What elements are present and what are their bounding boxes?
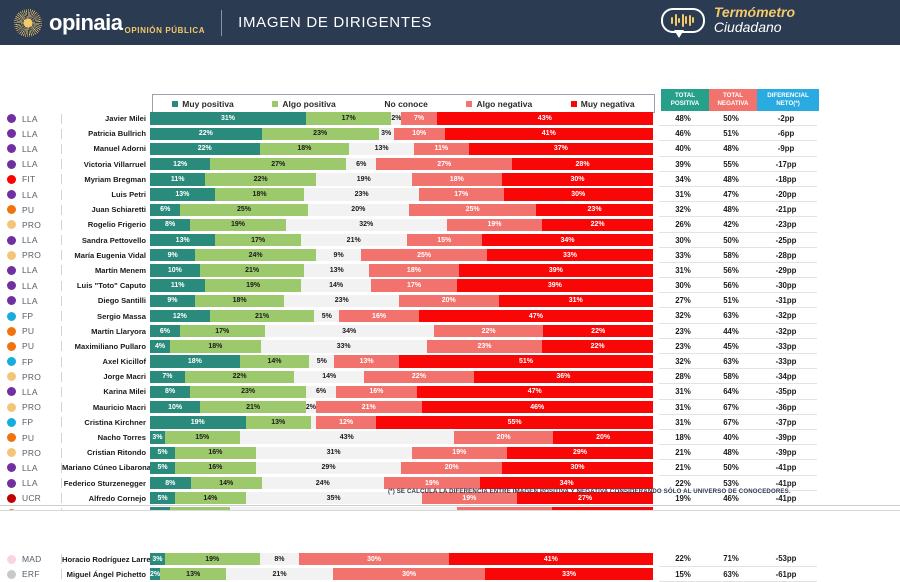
party-label: PU <box>22 326 62 336</box>
value-total-negativa: 47% <box>707 187 755 202</box>
stacked-bar: 5%16%31%19%29% <box>150 447 653 459</box>
value-diferencial-neto: -33pp <box>755 354 817 369</box>
bar-segment-algo-negativa: 16% <box>339 310 419 322</box>
bar-segment-no-conoce: 13% <box>304 264 369 276</box>
bar-segment-algo-negativa: 12% <box>316 416 376 428</box>
bar-segment-no-conoce: 32% <box>286 219 447 231</box>
bar-segment-algo-positiva: 15% <box>165 431 240 443</box>
bar-segment-algo-positiva: 17% <box>180 325 265 337</box>
party-color-dot-cell <box>0 312 22 321</box>
bar-segment-muy-positiva: 9% <box>150 249 195 261</box>
party-color-dot-icon <box>7 114 16 123</box>
value-diferencial-neto: -39pp <box>755 445 817 460</box>
value-diferencial-neto: -32pp <box>755 324 817 339</box>
value-total-positiva: 15% <box>659 567 707 582</box>
bar-segment-algo-negativa: 22% <box>434 325 544 337</box>
value-diferencial-neto: -31pp <box>755 293 817 308</box>
dirigente-name: Sandra Pettovello <box>62 236 150 245</box>
bar-segment-algo-positiva: 25% <box>180 204 307 216</box>
value-total-negativa: 50% <box>707 233 755 248</box>
bar-segment-algo-negativa: 16% <box>336 386 416 398</box>
bar-segment-algo-negativa: 20% <box>454 431 554 443</box>
value-diferencial-neto: -18pp <box>755 172 817 187</box>
party-color-dot-cell <box>0 220 22 229</box>
legend-label: No conoce <box>384 99 427 109</box>
stacked-bar: 12%21%5%16%47% <box>150 310 653 322</box>
legend-swatch-icon <box>571 101 577 107</box>
party-label: PU <box>22 341 62 351</box>
bar-segment-algo-positiva: 21% <box>210 310 315 322</box>
bar-segment-no-conoce: 24% <box>262 477 384 489</box>
dirigente-name: Juan Schiaretti <box>62 205 150 214</box>
party-color-dot-icon <box>7 220 16 229</box>
value-total-negativa: 51% <box>707 293 755 308</box>
table-row[interactable]: MADHoracio Rodríguez Larreta3%19%8%30%41… <box>0 551 900 566</box>
table-row[interactable]: ERFMiguel Ángel Pichetto2%13%21%30%33%15… <box>0 567 900 582</box>
header-divider <box>221 10 222 36</box>
bar-segment-muy-positiva: 11% <box>150 173 205 185</box>
bar-segment-algo-negativa: 21% <box>316 401 422 413</box>
bar-segment-muy-negativa: 39% <box>457 279 653 291</box>
brand-logo: opinaia OPINIÓN PÚBLICA <box>14 9 205 37</box>
bar-segment-muy-positiva: 31% <box>150 112 306 124</box>
bar-segment-algo-negativa: 20% <box>401 462 502 474</box>
bar-segment-no-conoce: 20% <box>308 204 410 216</box>
bar-segment-muy-positiva: 19% <box>150 416 246 428</box>
bar-segment-muy-negativa: 37% <box>469 143 653 155</box>
dirigente-name: Rogelio Frigerio <box>62 220 150 229</box>
bar-segment-muy-negativa: 22% <box>543 325 653 337</box>
dirigente-name: Diego Santilli <box>62 296 150 305</box>
bar-segment-algo-negativa: 7% <box>401 112 436 124</box>
dirigente-name: Luis Petri <box>62 190 150 199</box>
party-label: LLA <box>22 281 62 291</box>
bar-segment-muy-positiva: 22% <box>150 128 262 140</box>
bar-segment-muy-negativa: 30% <box>504 188 653 200</box>
stacked-bar: 8%19%32%19%22% <box>150 219 653 231</box>
dirigente-name: Manuel Adorni <box>62 144 150 153</box>
party-label: MAD <box>22 554 62 564</box>
bar-segment-algo-negativa: 17% <box>371 279 457 291</box>
table-row[interactable]: LLAMariano Cúneo Libarona5%16%29%20%30%2… <box>0 460 900 475</box>
table-row[interactable]: PROMauricio Macri10%21%2%21%46%31%67%-36… <box>0 400 900 415</box>
bar-segment-algo-negativa: 13% <box>334 355 399 367</box>
party-color-dot-icon <box>7 448 16 457</box>
bar-segment-muy-negativa: 39% <box>459 264 653 276</box>
value-total-negativa: 40% <box>707 430 755 445</box>
value-total-negativa: 45% <box>707 339 755 354</box>
bar-segment-algo-positiva: 16% <box>175 447 255 459</box>
bar-segment-muy-positiva: 8% <box>150 477 191 489</box>
bar-segment-muy-positiva: 5% <box>150 462 175 474</box>
value-total-negativa: 63% <box>707 567 755 582</box>
party-color-dot-cell <box>0 403 22 412</box>
bar-segment-algo-negativa: 18% <box>412 173 503 185</box>
table-row[interactable]: LLAVictoria Villarruel12%27%6%27%28%39%5… <box>0 157 900 172</box>
bar-segment-algo-positiva: 17% <box>215 234 301 246</box>
value-total-positiva: 30% <box>659 278 707 293</box>
legend-item-3[interactable]: Algo negativa <box>466 99 532 109</box>
table-row[interactable]: PUMaximiliano Pullaro4%18%33%23%22%23%45… <box>0 339 900 354</box>
bar-segment-algo-positiva: 21% <box>200 401 306 413</box>
dirigente-name: Cristian Ritondo <box>62 448 150 457</box>
bar-segment-muy-positiva: 10% <box>150 401 200 413</box>
stacked-bar: 11%19%14%17%39% <box>150 279 653 291</box>
dirigente-name: Patricia Bullrich <box>62 129 150 138</box>
party-color-dot-icon <box>7 494 16 503</box>
dirigente-name: Martín Llaryora <box>62 327 150 336</box>
table-row[interactable]: PROJorge Macri7%22%14%22%36%28%58%-34pp <box>0 369 900 384</box>
value-diferencial-neto: -36pp <box>755 400 817 415</box>
stacked-bar: 18%14%5%13%51% <box>150 355 653 367</box>
footnote: (*) SE CALCULA LA DIFERENCIA ENTRE IMAGE… <box>388 488 791 495</box>
stacked-bar: 22%23%3%10%41% <box>150 128 653 140</box>
legend-swatch-icon <box>172 101 178 107</box>
value-total-negativa: 50% <box>707 111 755 126</box>
dirigente-name: Axel Kicillof <box>62 357 150 366</box>
party-color-dot-icon <box>7 266 16 275</box>
table-row[interactable]: PUNacho Torres3%15%43%20%20%18%40%-39pp <box>0 430 900 445</box>
value-total-positiva: 32% <box>659 354 707 369</box>
dirigente-name: Sergio Massa <box>62 312 150 321</box>
bar-segment-no-conoce: 33% <box>261 340 427 352</box>
bar-segment-muy-negativa: 30% <box>502 173 653 185</box>
value-total-negativa: 55% <box>707 157 755 172</box>
dirigente-name: Horacio Rodríguez Larreta <box>62 555 150 564</box>
bar-segment-muy-negativa: 43% <box>437 112 653 124</box>
party-color-dot-icon <box>7 357 16 366</box>
party-color-dot-cell <box>0 570 22 579</box>
value-total-positiva: 34% <box>659 172 707 187</box>
value-total-positiva: 31% <box>659 263 707 278</box>
bar-segment-no-conoce: 6% <box>306 386 336 398</box>
bar-segment-no-conoce: 34% <box>265 325 434 337</box>
app-header: opinaia OPINIÓN PÚBLICA IMAGEN DE DIRIGE… <box>0 0 900 45</box>
stacked-bar: 13%18%23%17%30% <box>150 188 653 200</box>
party-color-dot-cell <box>0 479 22 488</box>
value-diferencial-neto: -61pp <box>755 567 817 582</box>
value-diferencial-neto: -33pp <box>755 339 817 354</box>
party-label: FP <box>22 311 62 321</box>
value-total-negativa: 56% <box>707 263 755 278</box>
value-diferencial-neto: -35pp <box>755 384 817 399</box>
brand-name: opinaia <box>49 12 123 34</box>
value-total-negativa: 58% <box>707 369 755 384</box>
table-row[interactable]: PROMaría Eugenia Vidal9%24%9%25%33%33%58… <box>0 248 900 263</box>
bar-segment-muy-negativa: 28% <box>512 158 653 170</box>
table-row[interactable]: LLALuis "Toto" Caputo11%19%14%17%39%30%5… <box>0 278 900 293</box>
dirigente-name: Martín Menem <box>62 266 150 275</box>
party-label: LLA <box>22 144 62 154</box>
party-color-dot-icon <box>7 296 16 305</box>
bar-segment-algo-negativa: 22% <box>364 371 474 383</box>
party-color-dot-cell <box>0 266 22 275</box>
value-total-negativa: 58% <box>707 248 755 263</box>
bar-segment-no-conoce: 5% <box>309 355 334 367</box>
bar-segment-muy-positiva: 12% <box>150 158 210 170</box>
party-color-dot-cell <box>0 144 22 153</box>
table-row[interactable]: LLADiego Santilli9%18%23%20%31%27%51%-31… <box>0 293 900 308</box>
stacked-bar: 6%25%20%25%23% <box>150 204 653 216</box>
bar-segment-muy-positiva: 7% <box>150 371 185 383</box>
bar-segment-algo-negativa: 15% <box>407 234 482 246</box>
value-total-positiva: 33% <box>659 248 707 263</box>
bar-segment-algo-positiva: 18% <box>195 295 285 307</box>
bar-segment-no-conoce: 2% <box>391 112 401 124</box>
bar-segment-muy-positiva: 11% <box>150 279 205 291</box>
party-color-dot-icon <box>7 372 16 381</box>
dirigente-name: María Eugenia Vidal <box>62 251 150 260</box>
bar-segment-muy-negativa: 23% <box>536 204 653 216</box>
value-total-positiva: 18% <box>659 430 707 445</box>
termometro-line2: Ciudadano <box>714 20 795 35</box>
value-diferencial-neto: -2pp <box>755 111 817 126</box>
party-color-dot-cell <box>0 555 22 564</box>
value-total-negativa: 48% <box>707 141 755 156</box>
brand-tagline: OPINIÓN PÚBLICA <box>125 26 206 37</box>
party-color-dot-icon <box>7 205 16 214</box>
stacked-bar: 13%17%21%15%34% <box>150 234 653 246</box>
value-total-positiva: 31% <box>659 187 707 202</box>
value-total-negativa: 48% <box>707 172 755 187</box>
value-diferencial-neto: -32pp <box>755 308 817 323</box>
bar-segment-algo-negativa: 25% <box>409 204 536 216</box>
bar-segment-no-conoce: 9% <box>316 249 361 261</box>
dirigente-name: Federico Sturzenegger <box>62 479 150 488</box>
bar-segment-algo-negativa: 30% <box>333 568 485 580</box>
speech-bubble-equalizer-icon <box>661 8 705 33</box>
value-total-positiva: 46% <box>659 126 707 141</box>
stacked-bar: 11%22%19%18%30% <box>150 173 653 185</box>
value-total-positiva: 32% <box>659 202 707 217</box>
bar-segment-no-conoce: 19% <box>316 173 412 185</box>
bar-segment-muy-positiva: 8% <box>150 386 190 398</box>
bar-segment-muy-negativa: 22% <box>542 219 653 231</box>
dirigente-name: Nacho Torres <box>62 433 150 442</box>
bar-segment-no-conoce: 2% <box>306 401 316 413</box>
table-row[interactable]: LLAMartín Menem10%21%13%18%39%31%56%-29p… <box>0 263 900 278</box>
dirigente-name: Cristina Kirchner <box>62 418 150 427</box>
bar-segment-muy-negativa: 41% <box>449 553 653 565</box>
bar-segment-no-conoce: 6% <box>346 158 376 170</box>
bar-segment-algo-positiva: 19% <box>205 279 301 291</box>
table-row[interactable]: LLASandra Pettovello13%17%21%15%34%30%50… <box>0 233 900 248</box>
bar-segment-muy-negativa: 20% <box>553 431 653 443</box>
bar-segment-muy-positiva: 18% <box>150 355 240 367</box>
legend-label: Algo negativa <box>476 99 532 109</box>
party-label: LLA <box>22 478 62 488</box>
value-total-negativa: 48% <box>707 445 755 460</box>
party-color-dot-cell <box>0 190 22 199</box>
bar-segment-muy-positiva: 3% <box>150 431 165 443</box>
value-diferencial-neto: -29pp <box>755 263 817 278</box>
opinaia-sunburst-logo-icon <box>14 9 42 37</box>
value-total-negativa: 71% <box>707 551 755 566</box>
bar-segment-muy-positiva: 5% <box>150 447 175 459</box>
party-color-dot-cell <box>0 387 22 396</box>
termometro-ciudadano-brand: Termómetro Ciudadano <box>661 5 795 35</box>
value-total-negativa: 42% <box>707 217 755 232</box>
party-color-dot-icon <box>7 403 16 412</box>
bar-segment-muy-positiva: 12% <box>150 310 210 322</box>
party-label: LLA <box>22 235 62 245</box>
dirigente-name: Mariano Cúneo Libarona <box>62 463 150 472</box>
legend-item-0[interactable]: Muy positiva <box>172 99 233 109</box>
party-label: LLA <box>22 190 62 200</box>
bottom-band <box>0 510 900 551</box>
legend-swatch-icon <box>272 101 278 107</box>
party-color-dot-icon <box>7 236 16 245</box>
party-label: ERF <box>22 569 62 579</box>
legend-item-1[interactable]: Algo positiva <box>272 99 335 109</box>
value-total-positiva: 22% <box>659 551 707 566</box>
legend-label: Algo positiva <box>282 99 335 109</box>
table-row[interactable]: LLAJavier Milei31%17%2%7%43%48%50%-2pp <box>0 111 900 126</box>
page-title: IMAGEN DE DIRIGENTES <box>238 14 432 31</box>
value-diferencial-neto: -28pp <box>755 248 817 263</box>
bar-segment-algo-negativa: 30% <box>299 553 448 565</box>
bar-segment-muy-negativa: 31% <box>499 295 653 307</box>
stacked-bar: 12%27%6%27%28% <box>150 158 653 170</box>
party-color-dot-cell <box>0 251 22 260</box>
bar-segment-muy-positiva: 9% <box>150 295 195 307</box>
bar-segment-muy-positiva: 6% <box>150 325 180 337</box>
bar-segment-no-conoce: 8% <box>260 553 300 565</box>
party-color-dot-cell <box>0 342 22 351</box>
table-row[interactable]: PROCristian Ritondo5%16%31%19%29%21%48%-… <box>0 445 900 460</box>
table-row[interactable]: LLAPatricia Bullrich22%23%3%10%41%46%51%… <box>0 126 900 141</box>
bar-segment-muy-negativa: 22% <box>542 340 653 352</box>
party-color-dot-icon <box>7 479 16 488</box>
summary-column-headers: TOTAL POSITIVA TOTAL NEGATIVA DIFERENCIA… <box>661 89 819 111</box>
bar-segment-no-conoce: 14% <box>294 371 364 383</box>
bar-segment-algo-positiva: 19% <box>190 219 286 231</box>
bar-segment-algo-negativa: 19% <box>412 447 508 459</box>
value-total-negativa: 67% <box>707 400 755 415</box>
party-color-dot-cell <box>0 418 22 427</box>
value-total-positiva: 40% <box>659 141 707 156</box>
bar-segment-algo-negativa: 19% <box>447 219 543 231</box>
value-total-negativa: 50% <box>707 460 755 475</box>
legend-swatch-icon <box>374 101 380 107</box>
bar-segment-muy-negativa: 55% <box>376 416 653 428</box>
party-color-dot-icon <box>7 570 16 579</box>
party-color-dot-cell <box>0 494 22 503</box>
table-row[interactable]: PRORogelio Frigerio8%19%32%19%22%26%42%-… <box>0 217 900 232</box>
value-total-positiva: 31% <box>659 400 707 415</box>
bar-segment-muy-positiva: 22% <box>150 143 260 155</box>
bar-segment-algo-positiva: 19% <box>165 553 260 565</box>
value-diferencial-neto: -20pp <box>755 187 817 202</box>
bar-segment-algo-positiva: 24% <box>195 249 316 261</box>
bar-segment-muy-negativa: 30% <box>502 462 653 474</box>
bar-segment-no-conoce: 21% <box>226 568 333 580</box>
bar-segment-algo-positiva: 17% <box>306 112 392 124</box>
header-diferencial-neto: DIFERENCIAL NETO(*) <box>757 89 819 111</box>
bar-segment-muy-negativa: 46% <box>422 401 653 413</box>
termometro-line1: Termómetro <box>714 5 795 20</box>
bar-segment-algo-positiva: 22% <box>205 173 316 185</box>
value-total-positiva: 28% <box>659 369 707 384</box>
bar-segment-algo-positiva: 21% <box>200 264 305 276</box>
party-color-dot-icon <box>7 463 16 472</box>
party-color-dot-icon <box>7 342 16 351</box>
dirigente-name: Javier Milei <box>62 114 150 123</box>
party-label: PRO <box>22 402 62 412</box>
value-total-negativa: 56% <box>707 278 755 293</box>
bar-segment-muy-negativa: 33% <box>487 249 653 261</box>
party-color-dot-cell <box>0 129 22 138</box>
header-total-negativa: TOTAL NEGATIVA <box>709 89 757 111</box>
bar-segment-muy-positiva: 2% <box>150 568 160 580</box>
value-total-positiva: 26% <box>659 217 707 232</box>
party-label: LLA <box>22 114 62 124</box>
table-row[interactable]: FITMyriam Bregman11%22%19%18%30%34%48%-1… <box>0 172 900 187</box>
dirigente-name: Luis "Toto" Caputo <box>62 281 150 290</box>
bar-segment-no-conoce: 3% <box>379 128 394 140</box>
stacked-bar: 5%16%29%20%30% <box>150 462 653 474</box>
table-row[interactable]: LLALuis Petri13%18%23%17%30%31%47%-20pp <box>0 187 900 202</box>
value-diferencial-neto: -39pp <box>755 430 817 445</box>
dirigente-name: Myriam Bregman <box>62 175 150 184</box>
bar-segment-algo-positiva: 18% <box>170 340 261 352</box>
party-color-dot-cell <box>0 463 22 472</box>
bar-segment-muy-positiva: 3% <box>150 553 165 565</box>
bar-segment-algo-positiva: 14% <box>175 492 245 504</box>
party-color-dot-icon <box>7 129 16 138</box>
party-label: PRO <box>22 220 62 230</box>
bar-segment-algo-positiva: 13% <box>160 568 226 580</box>
bar-segment-algo-negativa: 20% <box>399 295 499 307</box>
party-color-dot-cell <box>0 175 22 184</box>
party-color-dot-icon <box>7 160 16 169</box>
table-row[interactable]: LLAKarina Milei8%23%6%16%47%31%64%-35pp <box>0 384 900 399</box>
value-total-negativa: 63% <box>707 354 755 369</box>
stacked-bar: 2%13%21%30%33% <box>150 568 653 580</box>
party-label: PRO <box>22 372 62 382</box>
value-total-positiva: 30% <box>659 233 707 248</box>
legend-item-4[interactable]: Muy negativa <box>571 99 635 109</box>
party-color-dot-cell <box>0 433 22 442</box>
value-diferencial-neto: -17pp <box>755 157 817 172</box>
bar-segment-muy-positiva: 8% <box>150 219 190 231</box>
party-label: FIT <box>22 174 62 184</box>
table-row[interactable]: FPCristina Kirchner19%13%12%55%31%67%-37… <box>0 415 900 430</box>
table-row[interactable]: PUJuan Schiaretti6%25%20%25%23%32%48%-21… <box>0 202 900 217</box>
party-color-dot-cell <box>0 448 22 457</box>
table-row[interactable]: FPAxel Kicillof18%14%5%13%51%32%63%-33pp <box>0 354 900 369</box>
party-label: LLA <box>22 463 62 473</box>
stacked-bar: 3%15%43%20%20% <box>150 431 653 443</box>
stacked-bar: 9%24%9%25%33% <box>150 249 653 261</box>
table-row[interactable]: FPSergio Massa12%21%5%16%47%32%63%-32pp <box>0 308 900 323</box>
value-diferencial-neto: -30pp <box>755 278 817 293</box>
bar-segment-algo-negativa: 25% <box>361 249 487 261</box>
stacked-bar: 4%18%33%23%22% <box>150 340 653 352</box>
value-total-positiva: 21% <box>659 460 707 475</box>
table-row[interactable]: LLAManuel Adorni22%18%13%11%37%40%48%-9p… <box>0 141 900 156</box>
stacked-bar: 22%18%13%11%37% <box>150 143 653 155</box>
header-right-filler <box>800 0 900 45</box>
table-row[interactable]: PUMartín Llaryora6%17%34%22%22%23%44%-32… <box>0 324 900 339</box>
value-total-negativa: 48% <box>707 202 755 217</box>
value-diferencial-neto: -41pp <box>755 460 817 475</box>
legend-item-2[interactable]: No conoce <box>374 99 427 109</box>
value-diferencial-neto: -53pp <box>755 551 817 566</box>
bar-segment-algo-positiva: 14% <box>191 477 262 489</box>
party-color-dot-icon <box>7 190 16 199</box>
party-label: LLA <box>22 159 62 169</box>
